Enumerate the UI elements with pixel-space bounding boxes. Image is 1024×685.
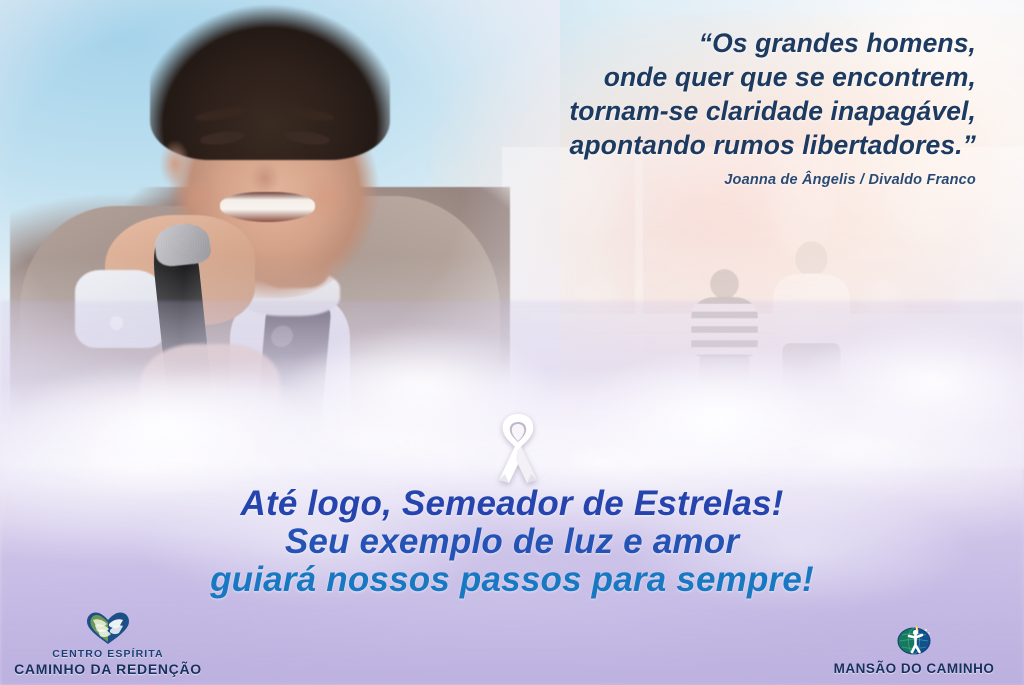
globe-figure-logo-icon xyxy=(892,622,936,658)
headline-block: Até logo, Semeador de Estrelas! Seu exem… xyxy=(0,485,1024,599)
memorial-poster: “Os grandes homens, onde quer que se enc… xyxy=(0,0,1024,685)
white-mourning-ribbon-icon xyxy=(487,410,549,484)
hand-holding-microphone xyxy=(140,344,280,445)
smiling-mouth xyxy=(220,192,315,222)
headline-line-1: Até logo, Semeador de Estrelas! xyxy=(0,485,1024,523)
shirt-cuff xyxy=(75,270,165,348)
faded-photo-two-people-walking-icon xyxy=(532,164,1024,452)
quote-line-3: tornam-se claridade inapagável, xyxy=(376,94,976,128)
heart-hands-logo-icon xyxy=(85,611,131,645)
headline-line-3: guiará nossos passos para sempre! xyxy=(0,561,1024,599)
hair-shape xyxy=(150,3,390,159)
mansao-do-caminho-logo: MANSÃO DO CAMINHO xyxy=(814,622,1014,677)
centro-espirita-line-2: CAMINHO DA REDENÇÃO xyxy=(8,661,208,677)
nose-shape xyxy=(245,146,285,192)
quote-attribution: Joanna de Ângelis / Divaldo Franco xyxy=(376,172,976,188)
quote-line-1: “Os grandes homens, xyxy=(376,26,976,60)
centro-espirita-line-1: CENTRO ESPÍRITA xyxy=(8,648,208,661)
scene-fade-overlay xyxy=(502,147,1024,469)
headline-line-2: Seu exemplo de luz e amor xyxy=(0,523,1024,561)
quote-line-2: onde quer que se encontrem, xyxy=(376,60,976,94)
cuff-button xyxy=(110,316,123,330)
mansao-do-caminho-label: MANSÃO DO CAMINHO xyxy=(814,661,1014,677)
centro-espirita-logo: CENTRO ESPÍRITA CAMINHO DA REDENÇÃO xyxy=(8,611,208,677)
quote-block: “Os grandes homens, onde quer que se enc… xyxy=(376,26,976,162)
quote-line-4: apontando rumos libertadores.” xyxy=(376,128,976,162)
